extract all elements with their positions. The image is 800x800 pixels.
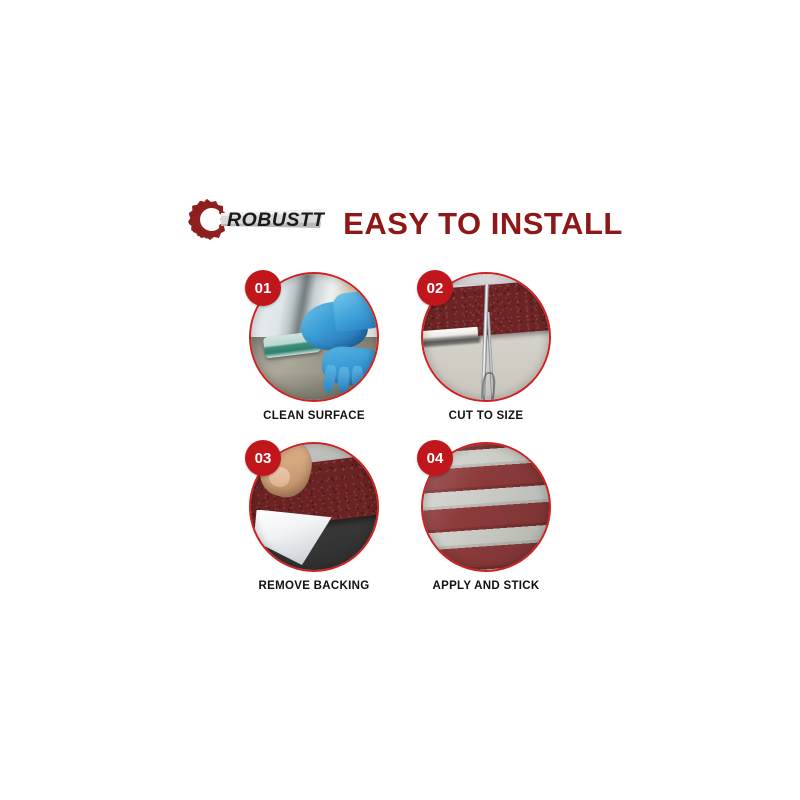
infographic-canvas: ROBUSTT EASY TO INSTALL [0,0,800,800]
step-item: 01 CLEAN SURFACE [238,272,390,435]
step-caption: REMOVE BACKING [238,580,390,592]
step-item: 02 CUT TO SIZE [410,272,562,435]
step-badge: 03 [245,440,281,476]
step-item: 03 REMOVE BACKING [238,442,390,605]
step-badge: 04 [417,440,453,476]
step-caption: CLEAN SURFACE [238,410,390,422]
logo-wordmark: ROBUSTT [227,209,325,231]
robustt-logo-graphic: ROBUSTT [177,195,325,251]
header: ROBUSTT EASY TO INSTALL [0,192,800,254]
step-image-wrap: 01 [249,272,379,402]
step-caption: APPLY AND STICK [410,580,562,592]
robustt-logo: ROBUSTT [177,195,325,251]
steps-grid: 01 CLEAN SURFACE [238,272,562,602]
step-item: 04 APPLY AND STICK [410,442,562,605]
glove-cuff [332,289,379,331]
step-image-wrap: 04 [421,442,551,572]
step-caption: CUT TO SIZE [410,410,562,422]
step-image-wrap: 03 [249,442,379,572]
glove-finger [352,366,363,391]
step-badge: 02 [417,270,453,306]
step-badge: 01 [245,270,281,306]
step-image-wrap: 02 [421,272,551,402]
page-title: EASY TO INSTALL [343,208,623,239]
